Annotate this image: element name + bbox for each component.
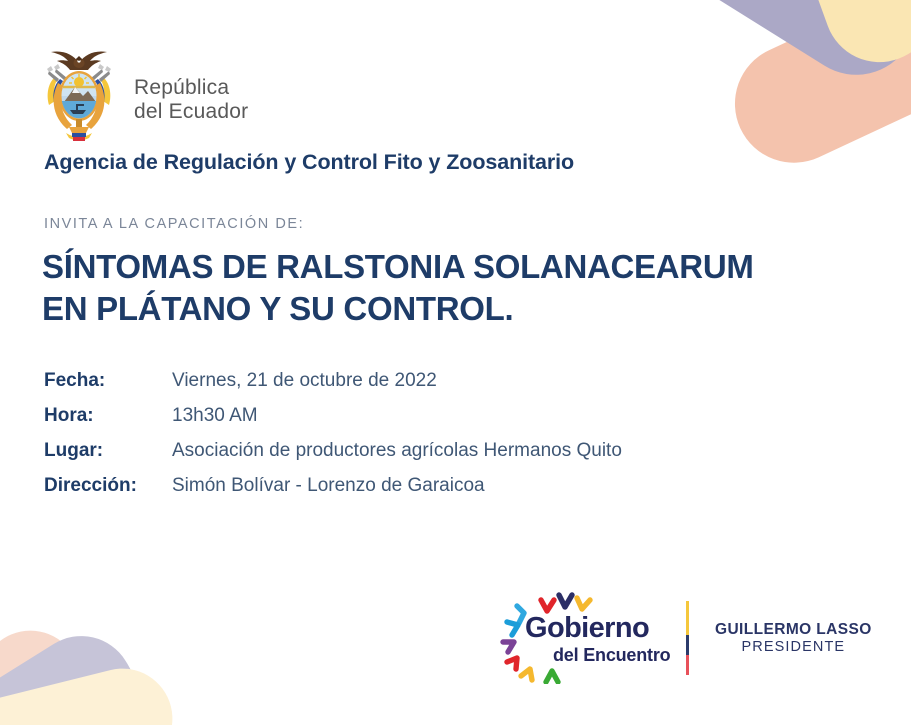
- republic-logo-text: República del Ecuador: [134, 62, 248, 125]
- detail-row-lugar: Lugar: Asociación de productores agrícol…: [44, 440, 622, 462]
- ecuador-flag-divider-icon: [686, 601, 689, 675]
- gobierno-line-1: Gobierno: [525, 614, 670, 643]
- detail-label-fecha: Fecha:: [44, 370, 172, 392]
- gobierno-wordmark: Gobierno del Encuentro: [525, 614, 670, 664]
- gobierno-line-2-encuentro: Encuentro: [583, 645, 670, 665]
- government-footer-lockup: Gobierno del Encuentro GUILLERMO LASSO P…: [497, 592, 872, 684]
- gobierno-del-encuentro-logo: Gobierno del Encuentro: [497, 592, 672, 684]
- invitation-poster: República del Ecuador Agencia de Regulac…: [0, 0, 911, 725]
- president-role: PRESIDENTE: [715, 639, 872, 655]
- detail-value-lugar: Asociación de productores agrícolas Herm…: [172, 440, 622, 462]
- republic-logo-lockup: República del Ecuador: [36, 43, 248, 143]
- event-details: Fecha: Viernes, 21 de octubre de 2022 Ho…: [44, 370, 622, 510]
- detail-label-hora: Hora:: [44, 405, 172, 427]
- title-line-2: EN PLÁTANO Y SU CONTROL.: [42, 288, 754, 330]
- detail-row-direccion: Dirección: Simón Bolívar - Lorenzo de Ga…: [44, 475, 622, 497]
- detail-value-fecha: Viernes, 21 de octubre de 2022: [172, 370, 437, 392]
- detail-value-hora: 13h30 AM: [172, 405, 258, 427]
- gobierno-line-2: del Encuentro: [553, 646, 670, 664]
- invitation-kicker: INVITA A LA CAPACITACIÓN DE:: [44, 216, 304, 232]
- president-block: GUILLERMO LASSO PRESIDENTE: [715, 621, 872, 655]
- president-name: GUILLERMO LASSO: [715, 621, 872, 638]
- detail-value-direccion: Simón Bolívar - Lorenzo de Garaicoa: [172, 475, 485, 497]
- ecuador-coat-of-arms-icon: [36, 43, 122, 143]
- detail-row-fecha: Fecha: Viernes, 21 de octubre de 2022: [44, 370, 622, 392]
- detail-label-direccion: Dirección:: [44, 475, 172, 497]
- detail-row-hora: Hora: 13h30 AM: [44, 405, 622, 427]
- agency-name: Agencia de Regulación y Control Fito y Z…: [44, 150, 574, 175]
- gobierno-line-2-del: del: [553, 645, 583, 665]
- detail-label-lugar: Lugar:: [44, 440, 172, 462]
- page-title: SÍNTOMAS DE RALSTONIA SOLANACEARUM EN PL…: [42, 246, 754, 330]
- title-line-1: SÍNTOMAS DE RALSTONIA SOLANACEARUM: [42, 246, 754, 288]
